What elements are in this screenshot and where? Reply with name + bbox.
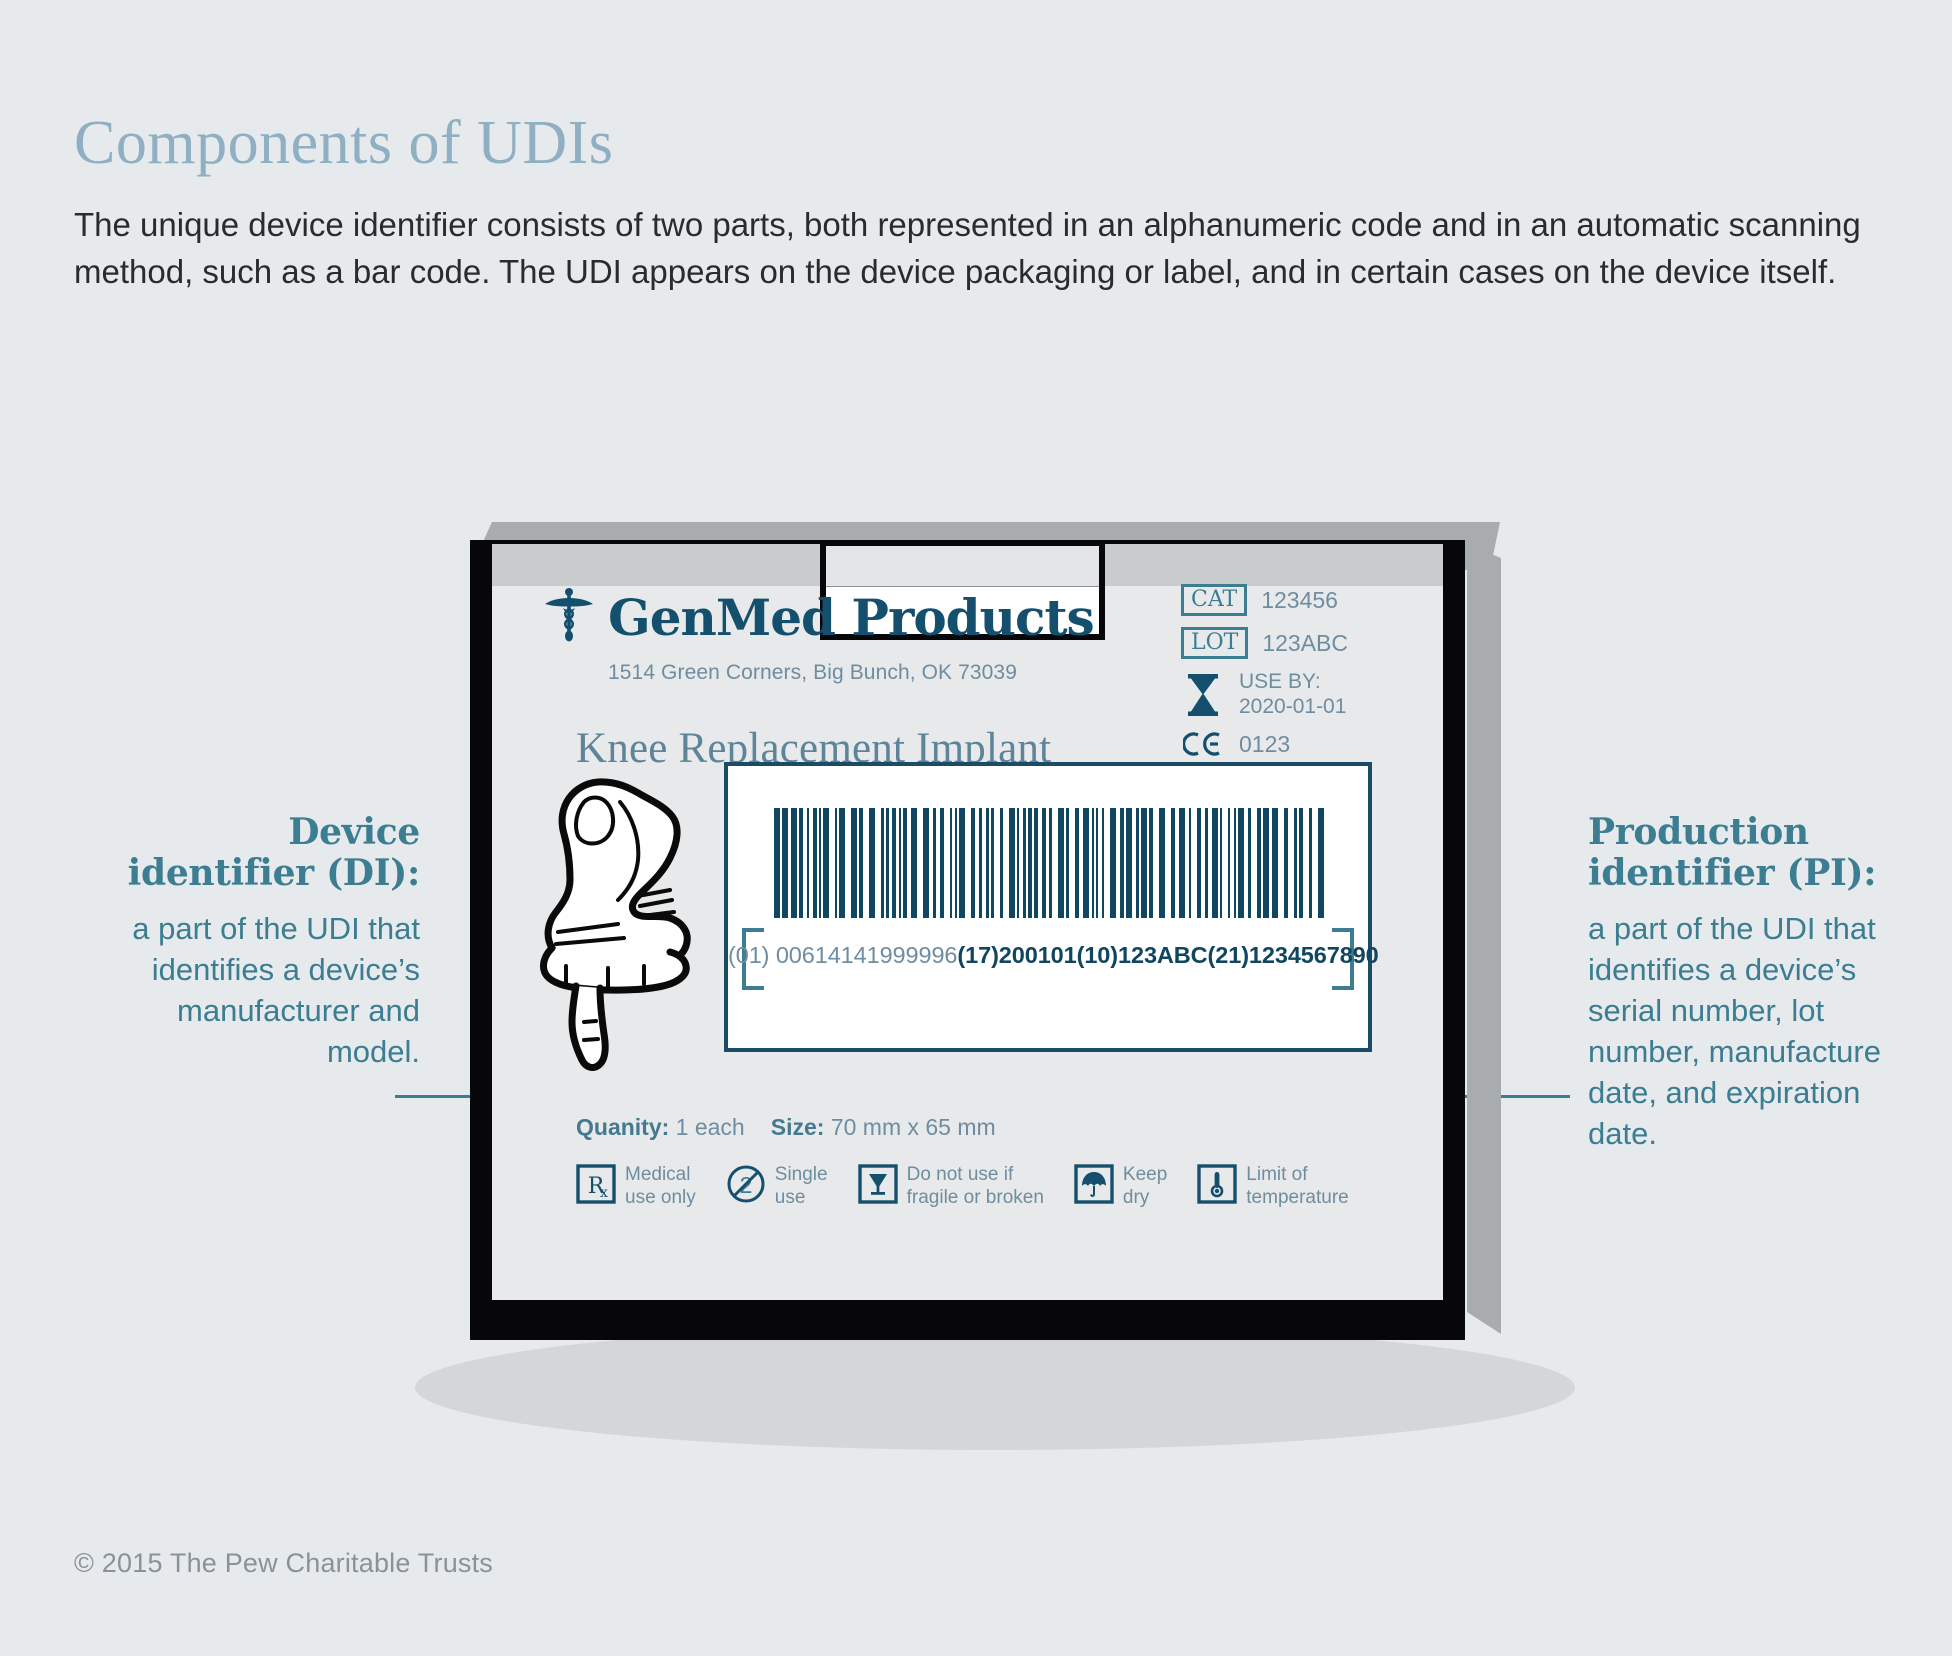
size-value: 70 mm x 65 mm — [831, 1114, 996, 1140]
barcode-bars — [774, 808, 1330, 918]
caduceus-icon — [544, 586, 594, 649]
symbol-keep-dry: Keep dry — [1074, 1164, 1167, 1210]
intro-paragraph: The unique device identifier consists of… — [74, 202, 1864, 296]
annotation-device-identifier: Device identifier (DI): a part of the UD… — [120, 812, 420, 1073]
symbol-fragile: Do not use if fragile or broken — [858, 1164, 1044, 1210]
symbol-4-line1: Limit of — [1246, 1164, 1307, 1185]
label-specs: Quanity: 1 eachSize: 70 mm x 65 mm — [576, 1114, 996, 1141]
annotation-production-identifier: Production identifier (PI): a part of th… — [1588, 812, 1888, 1155]
label-markings: CAT 123456 LOT 123ABC USE BY: 2020-01- — [1181, 584, 1381, 769]
quantity-label: Quanity: — [576, 1114, 669, 1140]
ce-value: 0123 — [1239, 731, 1290, 758]
marking-use-by: USE BY: 2020-01-01 — [1181, 670, 1381, 720]
marking-cat: CAT 123456 — [1181, 584, 1381, 616]
annotation-right-body: a part of the UDI that identifies a devi… — [1588, 909, 1888, 1154]
page-title: Components of UDIs — [74, 112, 1874, 174]
umbrella-icon — [1074, 1164, 1114, 1209]
thermometer-icon — [1197, 1164, 1237, 1209]
rx-icon: R x — [576, 1164, 616, 1209]
marking-lot: LOT 123ABC — [1181, 627, 1381, 659]
symbol-single-use: 2 Single use — [726, 1164, 828, 1210]
symbol-0-line2: use only — [625, 1187, 696, 1208]
use-by-date: 2020-01-01 — [1239, 695, 1346, 718]
symbol-3-line1: Keep — [1123, 1164, 1167, 1185]
symbol-3-line2: dry — [1123, 1187, 1149, 1208]
barcode-human-readable: (01) 00614141999996(17)200101(10)123ABC(… — [728, 942, 1368, 969]
lot-box-icon: LOT — [1181, 627, 1248, 659]
symbol-1-line1: Single — [775, 1164, 828, 1185]
symbol-2-line2: fragile or broken — [907, 1187, 1044, 1208]
symbol-4-line2: temperature — [1246, 1187, 1348, 1208]
barcode-di-text: (01) 00614141999996 — [728, 942, 957, 968]
knee-implant-illustration — [512, 772, 712, 1072]
footer-credit: © 2015 The Pew Charitable Trusts — [74, 1548, 493, 1579]
symbol-temperature-label: Limit of temperature — [1246, 1164, 1348, 1210]
header: Components of UDIs The unique device ide… — [74, 112, 1874, 296]
label-symbol-row: R x Medical use only 2 — [576, 1164, 1349, 1210]
package-side-face — [1467, 544, 1501, 1334]
symbol-single-use-label: Single use — [775, 1164, 828, 1210]
single-use-icon: 2 — [726, 1164, 766, 1209]
cat-value: 123456 — [1261, 587, 1338, 614]
symbol-fragile-label: Do not use if fragile or broken — [907, 1164, 1044, 1210]
symbol-medical-label: Medical use only — [625, 1164, 696, 1210]
ce-mark-icon — [1181, 731, 1225, 757]
svg-text:x: x — [600, 1185, 608, 1201]
symbol-keep-dry-label: Keep dry — [1123, 1164, 1167, 1210]
barcode-panel: (01) 00614141999996(17)200101(10)123ABC(… — [724, 762, 1372, 1052]
device-package: GenMed Products 1514 Green Corners, Big … — [470, 522, 1500, 1362]
symbol-2-line1: Do not use if — [907, 1164, 1014, 1185]
lot-value: 123ABC — [1262, 630, 1348, 657]
annotation-right-heading: Production identifier (PI): — [1588, 812, 1888, 893]
use-by-value: USE BY: 2020-01-01 — [1239, 670, 1346, 720]
brand-name: GenMed Products — [608, 593, 1094, 643]
symbol-limit-of-temperature: Limit of temperature — [1197, 1164, 1348, 1210]
symbol-0-line1: Medical — [625, 1164, 690, 1185]
hourglass-icon — [1181, 674, 1225, 716]
size-label: Size: — [771, 1114, 825, 1140]
package-label-content: GenMed Products 1514 Green Corners, Big … — [492, 544, 1443, 1300]
brand-block: GenMed Products 1514 Green Corners, Big … — [544, 586, 1094, 685]
brand-address: 1514 Green Corners, Big Bunch, OK 73039 — [608, 661, 1094, 685]
quantity-value: 1 each — [676, 1114, 745, 1140]
cat-box-icon: CAT — [1181, 584, 1247, 616]
fragile-icon — [858, 1164, 898, 1209]
symbol-medical-use-only: R x Medical use only — [576, 1164, 696, 1210]
use-by-label: USE BY: — [1239, 670, 1321, 693]
annotation-left-body: a part of the UDI that identifies a devi… — [120, 909, 420, 1073]
annotation-left-heading: Device identifier (DI): — [120, 812, 420, 893]
symbol-1-line2: use — [775, 1187, 806, 1208]
marking-ce: 0123 — [1181, 731, 1381, 758]
barcode-pi-text: (17)200101(10)123ABC(21)1234567890 — [957, 942, 1378, 968]
